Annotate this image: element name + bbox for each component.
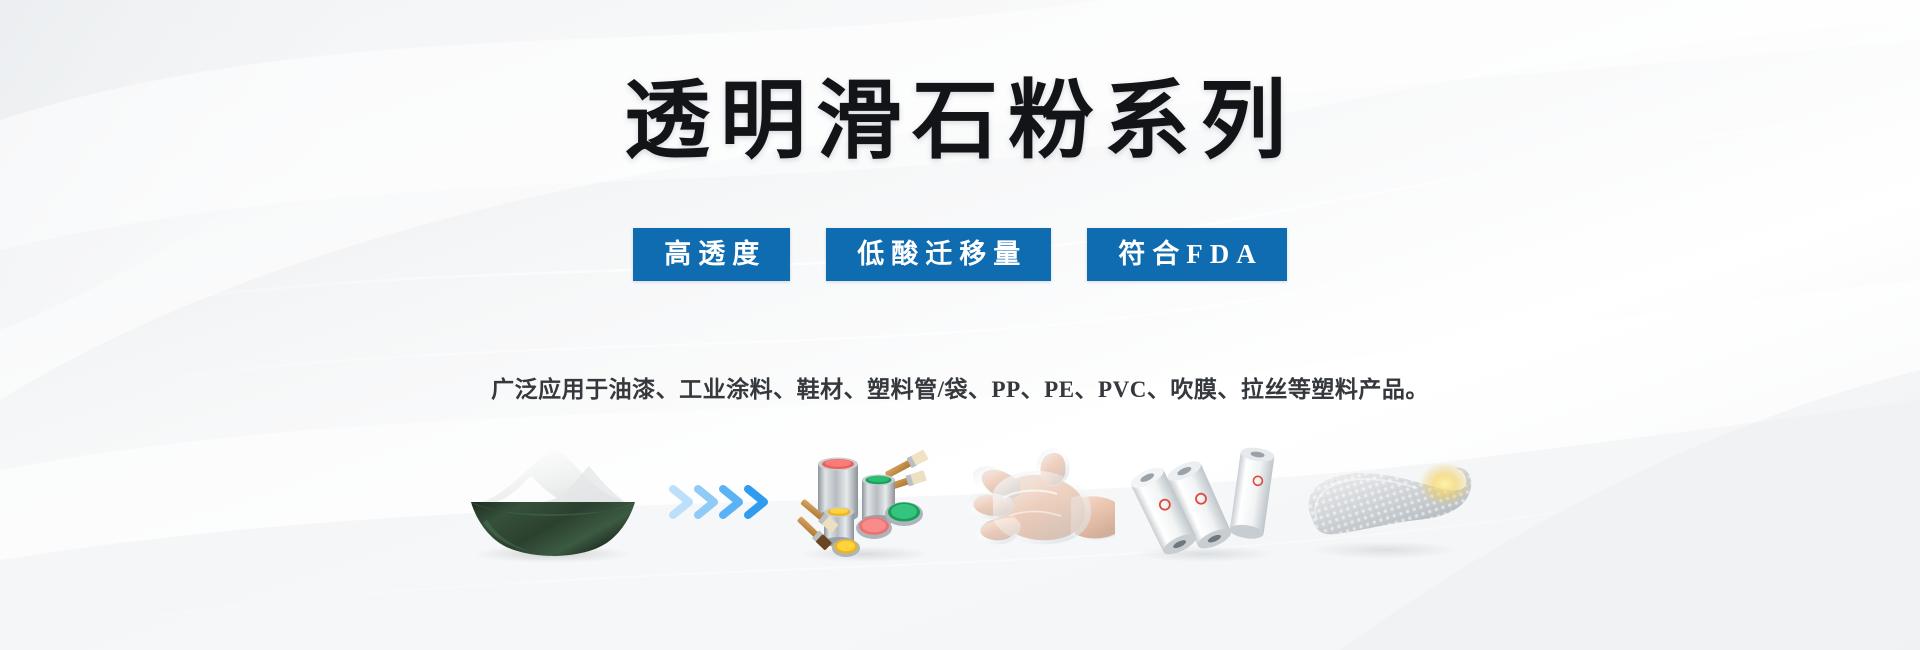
feature-badge-list: 高透度 低酸迁移量 符合FDA: [0, 228, 1920, 281]
application-image-strip: [0, 432, 1920, 562]
plastic-glove-hand-image: [940, 442, 1120, 562]
banner-description: 广泛应用于油漆、工业涂料、鞋材、塑料管/袋、PP、PE、PVC、吹膜、拉丝等塑料…: [0, 370, 1920, 404]
feature-badge-fda-compliant[interactable]: 符合FDA: [1087, 228, 1287, 281]
feature-badge-high-transparency[interactable]: 高透度: [633, 228, 790, 281]
process-arrows-icon: [660, 442, 790, 562]
banner-title: 透明滑石粉系列: [0, 78, 1920, 164]
shoe-sole-image: [1290, 442, 1475, 562]
feature-badge-low-acid-migration[interactable]: 低酸迁移量: [826, 228, 1051, 281]
plastic-film-rolls-image: [1120, 442, 1290, 562]
product-banner: 透明滑石粉系列 高透度 低酸迁移量 符合FDA 广泛应用于油漆、工业涂料、鞋材、…: [0, 0, 1920, 650]
paint-cans-image: [790, 442, 940, 562]
talc-powder-bowl-image: [445, 442, 660, 562]
